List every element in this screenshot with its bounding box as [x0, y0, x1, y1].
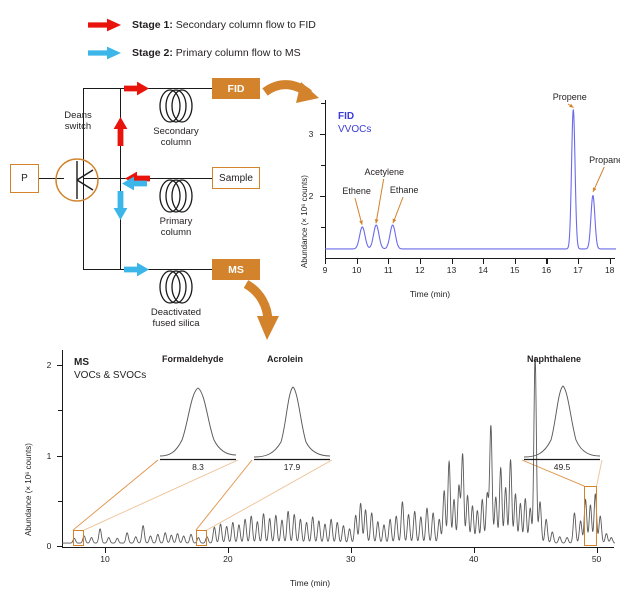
fid-xtick-label-10: 10 — [347, 265, 367, 275]
primary-column-line2: column — [161, 227, 192, 238]
fid-box[interactable]: FID — [212, 78, 260, 99]
inset-peak-formaldehyde — [158, 370, 238, 462]
sample-box[interactable]: Sample — [212, 167, 260, 189]
primary-column-coil-icon — [150, 179, 202, 213]
inset-rt-acrolein: 17.9 — [262, 462, 322, 472]
deans-switch-icon — [55, 158, 99, 202]
fid-x-axis-title: Time (min) — [370, 289, 490, 299]
fid-xtick-label-17: 17 — [568, 265, 588, 275]
fid-peak-arrow-ethane — [387, 191, 409, 229]
fid-xtick-label-15: 15 — [505, 265, 525, 275]
ms-xtick-label-30: 30 — [341, 554, 361, 564]
deans-switch-label: Deans switch — [38, 110, 118, 132]
fid-y-axis-label: Abundance (× 10⁶ counts) — [300, 175, 309, 268]
diagram-bottom-rail — [83, 269, 121, 270]
fid-xtick-label-9: 9 — [315, 265, 335, 275]
fid-box-label: FID — [228, 83, 245, 95]
fid-xtick-label-11: 11 — [378, 265, 398, 275]
fid-xtick-17 — [578, 259, 579, 264]
fid-chromatogram: FID VVOCs Abundance (× 10⁶ counts) 3 2 9… — [296, 96, 620, 302]
fused-silica-line2: fused silica — [153, 318, 200, 329]
ms-y-axis-label: Abundance (× 10⁶ counts) — [24, 443, 33, 536]
blue-arrow-to-ms-icon — [124, 262, 150, 277]
secondary-column-line1: Secondary — [153, 126, 198, 137]
fid-xtick-12 — [420, 259, 421, 264]
legend-stage1-bold: Stage 1: — [132, 19, 173, 31]
ms-xtick-40 — [474, 548, 475, 553]
ms-xtick-label-10: 10 — [95, 554, 115, 564]
blue-arrow-icon — [88, 46, 122, 60]
legend-stage2-bold: Stage 2: — [132, 47, 173, 59]
fid-xtick-13 — [452, 259, 453, 264]
fid-xtick-label-14: 14 — [473, 265, 493, 275]
fid-xtick-10 — [357, 259, 358, 264]
ms-chromatogram: MS VOCs & SVOCs Abundance (× 10⁶ counts)… — [22, 340, 612, 590]
fused-silica-line1: Deactivated — [151, 307, 201, 318]
inset-peak-acrolein — [252, 370, 332, 462]
fid-xtick-18 — [610, 259, 611, 264]
secondary-column-line2: column — [161, 137, 192, 148]
legend-stage1-rest: Secondary column flow to FID — [173, 19, 316, 31]
fid-xtick-15 — [515, 259, 516, 264]
legend-item-stage1: Stage 1: Secondary column flow to FID — [88, 14, 508, 36]
fid-xtick-label-16: 16 — [536, 265, 556, 275]
fid-peak-arrow-propane — [587, 161, 610, 198]
ms-highlight-box-naphthalene — [584, 486, 596, 546]
fid-xtick-label-12: 12 — [410, 265, 430, 275]
red-arrow-icon — [88, 18, 122, 32]
fid-xtick-14 — [483, 259, 484, 264]
ms-highlight-box-acrolein — [196, 530, 207, 546]
inset-title-naphthalene: Naphthalene — [527, 354, 581, 364]
primary-column-line1: Primary — [160, 216, 193, 227]
fid-xtick-9 — [325, 259, 326, 264]
inset-title-formaldehyde: Formaldehyde — [162, 354, 224, 364]
ms-xtick-label-20: 20 — [218, 554, 238, 564]
ms-box-label: MS — [228, 264, 244, 276]
ms-ytick-label-2: 2 — [42, 360, 56, 370]
ms-xtick-50 — [597, 548, 598, 553]
deans-switch-label-line2: switch — [65, 121, 91, 132]
secondary-column-coil-icon — [150, 89, 202, 123]
diagram-top-rail — [83, 88, 121, 89]
fid-xtick-11 — [388, 259, 389, 264]
legend-text-stage2: Stage 2: Primary column flow to MS — [132, 47, 301, 59]
ms-ytick-label-0: 0 — [42, 541, 56, 551]
ms-ytick-label-1: 1 — [42, 451, 56, 461]
primary-column-label: Primary column — [140, 216, 212, 238]
fid-xtick-16 — [546, 259, 547, 264]
ms-highlight-box-formaldehyde — [73, 530, 84, 546]
fid-ytick-label-2: 2 — [304, 191, 318, 201]
ms-xtick-label-50: 50 — [587, 554, 607, 564]
ms-xtick-10 — [105, 548, 106, 553]
inset-peak-naphthalene — [522, 370, 602, 462]
fid-xtick-label-13: 13 — [442, 265, 462, 275]
fid-trace — [325, 100, 616, 259]
inset-title-acrolein: Acrolein — [267, 354, 303, 364]
fid-xtick-label-18: 18 — [600, 265, 620, 275]
ms-xtick-20 — [228, 548, 229, 553]
fused-silica-label: Deactivated fused silica — [134, 307, 218, 329]
fused-silica-coil-icon — [150, 270, 202, 304]
red-arrow-to-secondary-icon — [124, 81, 150, 96]
inset-rt-formaldehyde: 8.3 — [168, 462, 228, 472]
pressure-box[interactable]: P — [10, 164, 39, 193]
legend-text-stage1: Stage 1: Secondary column flow to FID — [132, 19, 316, 31]
fid-peak-arrow-ethene — [349, 192, 368, 231]
ms-xtick-30 — [351, 548, 352, 553]
secondary-column-label-text: Secondary column — [140, 126, 212, 148]
inset-rt-naphthalene: 49.5 — [532, 462, 592, 472]
orange-curved-arrow-ms-icon — [240, 282, 290, 344]
sample-box-label: Sample — [219, 173, 253, 184]
ms-xtick-label-40: 40 — [464, 554, 484, 564]
blue-arrow-down-icon — [113, 190, 128, 220]
fid-peak-arrow-propene — [562, 98, 580, 114]
ms-x-axis-title: Time (min) — [250, 578, 370, 588]
blue-arrow-from-sample-icon — [121, 176, 147, 191]
ms-box[interactable]: MS — [212, 259, 260, 280]
legend-stage2-rest: Primary column flow to MS — [173, 47, 301, 59]
deans-switch-label-line1: Deans — [64, 110, 91, 121]
red-arrow-up-icon — [113, 117, 128, 147]
pressure-box-label: P — [21, 173, 28, 184]
fid-ytick-label-3: 3 — [304, 129, 318, 139]
